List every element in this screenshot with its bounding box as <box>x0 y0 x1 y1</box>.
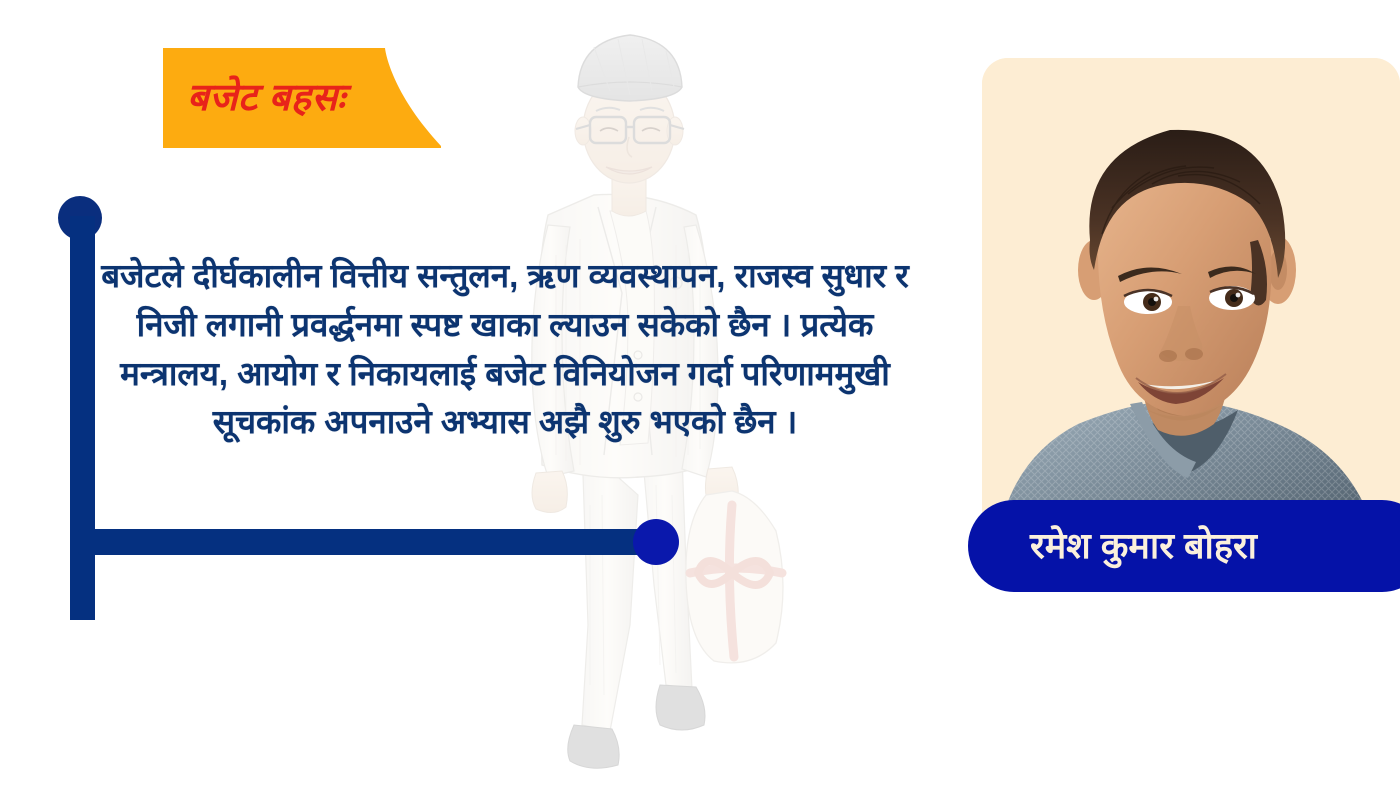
bracket-vertical-bar <box>70 216 95 620</box>
bracket-end-dot <box>633 519 679 565</box>
quote-text: बजेटले दीर्घकालीन वित्तीय सन्तुलन, ऋण व्… <box>95 252 915 447</box>
portrait-card <box>982 58 1400 570</box>
speaker-name-badge: रमेश कुमार बोहरा <box>968 500 1400 592</box>
infographic-canvas: बजेट बहसः बजेटले दीर्घकालीन वित्तीय सन्त… <box>0 0 1400 800</box>
section-tag-badge: बजेट बहसः <box>163 48 443 148</box>
portrait-photo <box>982 58 1400 570</box>
speaker-name-label: रमेश कुमार बोहरा <box>1030 528 1257 564</box>
bracket-horizontal-bar <box>78 529 658 555</box>
section-tag-label: बजेट बहसः <box>187 79 345 117</box>
